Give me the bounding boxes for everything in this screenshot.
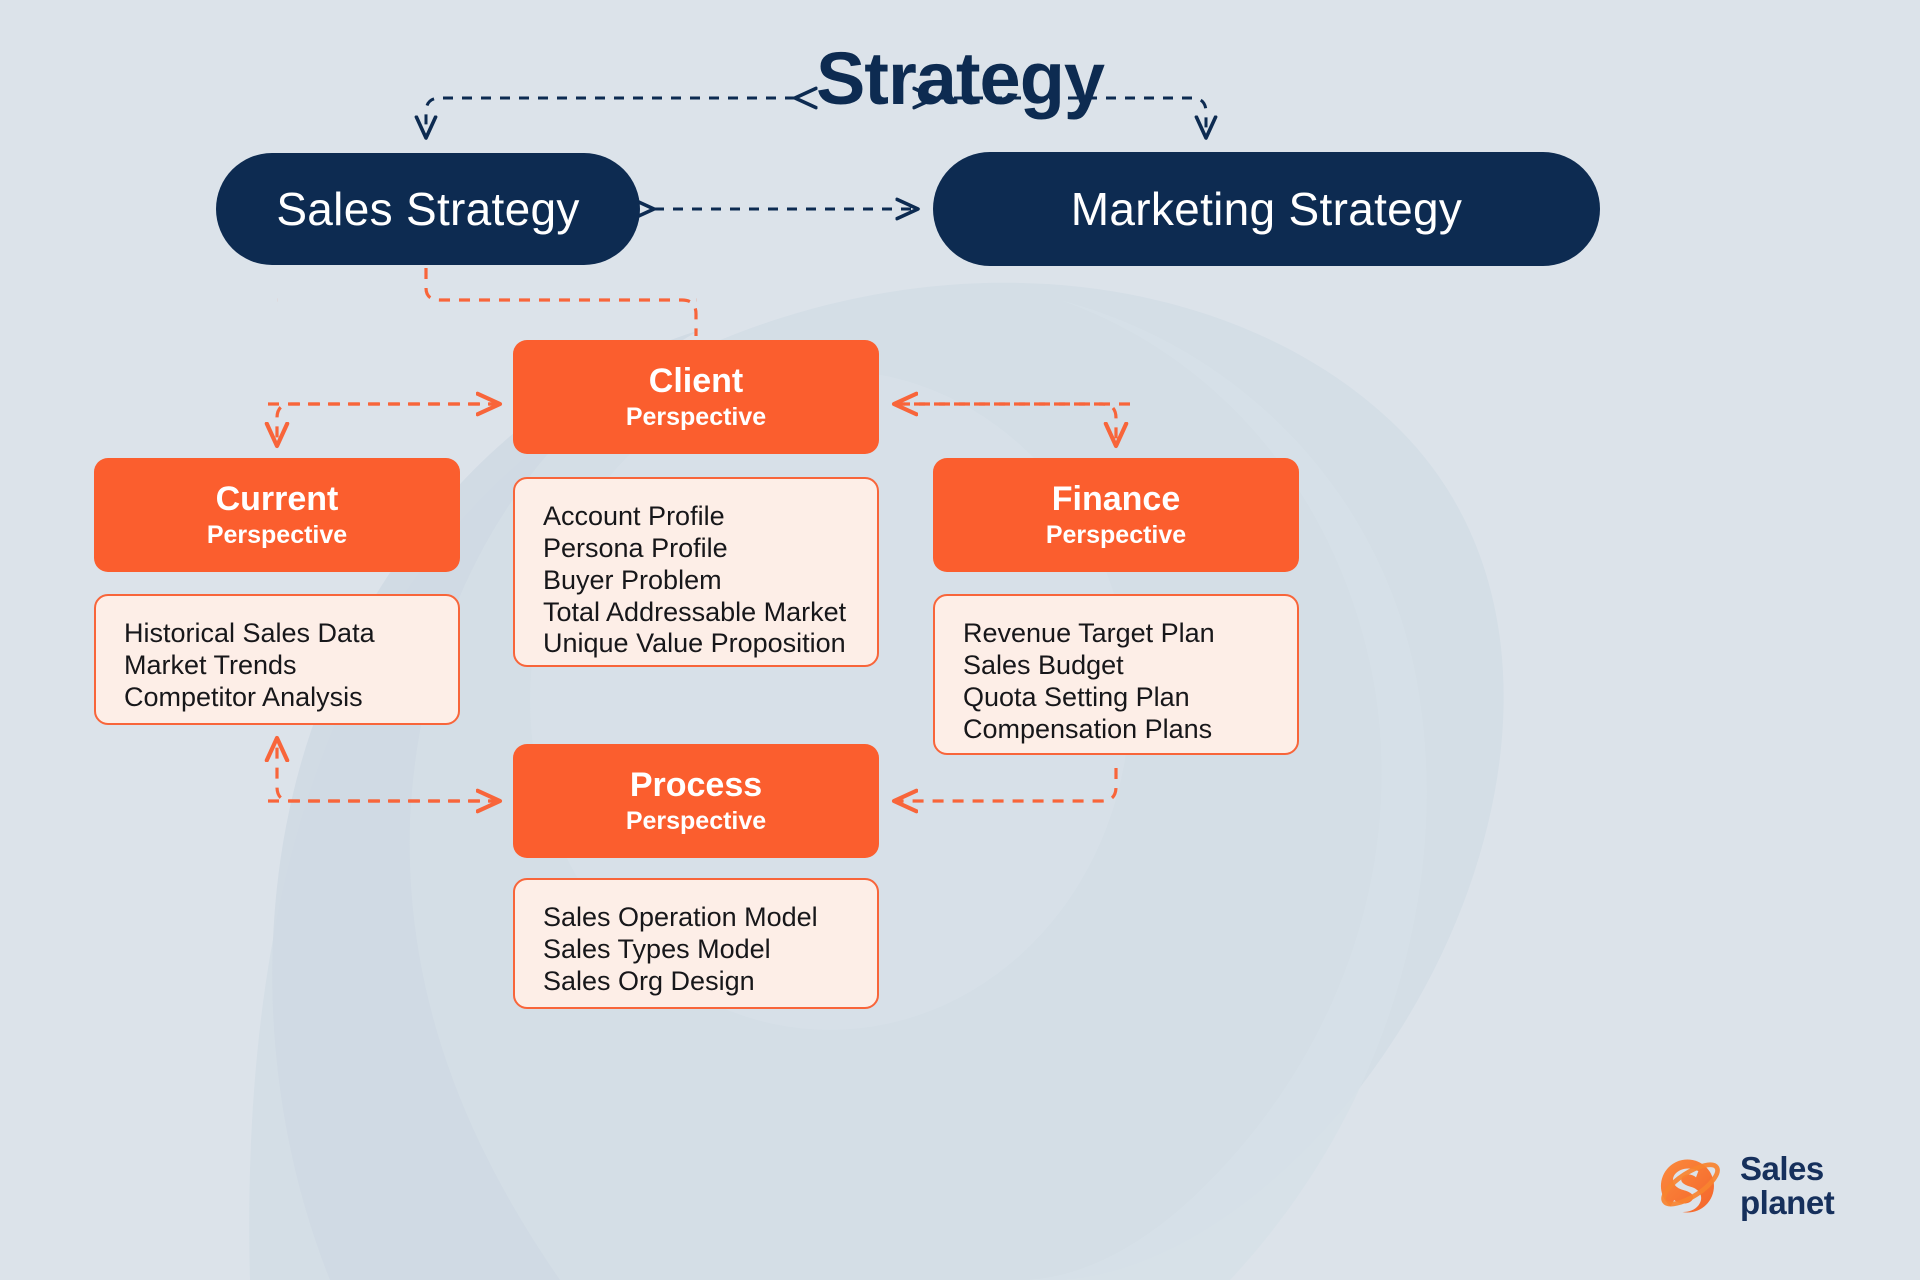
brand-logo: Sales planet <box>1650 1138 1870 1234</box>
header-client-title: Client <box>649 362 743 400</box>
list-item: Historical Sales Data <box>124 618 430 650</box>
list-item: Market Trends <box>124 650 430 682</box>
header-finance-subtitle: Perspective <box>1046 520 1186 550</box>
brand-line-1: Sales <box>1740 1152 1834 1186</box>
header-finance-perspective[interactable]: Finance Perspective <box>933 458 1299 572</box>
diagram-canvas: Strategy Sales Strategy Marketing Strate… <box>0 0 1920 1280</box>
header-current-title: Current <box>216 480 339 518</box>
list-item: Sales Budget <box>963 650 1269 682</box>
list-item: Persona Profile <box>543 533 849 565</box>
node-sales-strategy-label: Sales Strategy <box>276 182 579 236</box>
list-item: Quota Setting Plan <box>963 682 1269 714</box>
header-finance-title: Finance <box>1052 480 1180 518</box>
page-title: Strategy <box>0 36 1920 121</box>
header-client-perspective[interactable]: Client Perspective <box>513 340 879 454</box>
header-process-title: Process <box>630 766 762 804</box>
list-item: Unique Value Proposition <box>543 628 849 660</box>
brand-line-2: planet <box>1740 1186 1834 1220</box>
header-process-subtitle: Perspective <box>626 806 766 836</box>
list-item: Sales Org Design <box>543 966 849 998</box>
list-current-items: Historical Sales Data Market Trends Comp… <box>94 594 460 725</box>
node-sales-strategy[interactable]: Sales Strategy <box>216 153 640 265</box>
list-finance-items: Revenue Target Plan Sales Budget Quota S… <box>933 594 1299 755</box>
list-item: Compensation Plans <box>963 714 1269 746</box>
brand-logo-text: Sales planet <box>1740 1152 1834 1219</box>
list-item: Sales Operation Model <box>543 902 849 934</box>
header-process-perspective[interactable]: Process Perspective <box>513 744 879 858</box>
list-process-items: Sales Operation Model Sales Types Model … <box>513 878 879 1009</box>
list-item: Buyer Problem <box>543 565 849 597</box>
list-item: Competitor Analysis <box>124 682 430 714</box>
node-marketing-strategy-label: Marketing Strategy <box>1071 182 1462 236</box>
list-client-items: Account Profile Persona Profile Buyer Pr… <box>513 477 879 667</box>
list-item: Account Profile <box>543 501 849 533</box>
header-current-perspective[interactable]: Current Perspective <box>94 458 460 572</box>
list-item: Total Addressable Market <box>543 597 849 629</box>
header-current-subtitle: Perspective <box>207 520 347 550</box>
planet-s-icon <box>1650 1147 1728 1225</box>
list-item: Sales Types Model <box>543 934 849 966</box>
header-client-subtitle: Perspective <box>626 402 766 432</box>
list-item: Revenue Target Plan <box>963 618 1269 650</box>
node-marketing-strategy[interactable]: Marketing Strategy <box>933 152 1600 266</box>
